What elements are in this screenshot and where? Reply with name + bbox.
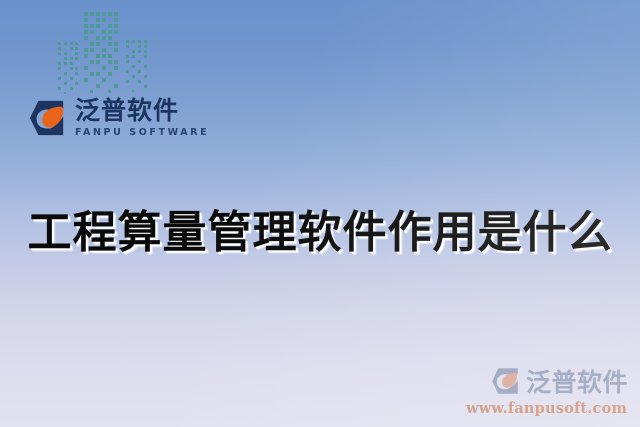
watermark: 泛普软件 www.fanpusoft.com xyxy=(466,363,628,417)
brand-logo: 泛普软件 FANPU SOFTWARE xyxy=(28,98,209,138)
watermark-url: www.fanpusoft.com xyxy=(466,400,627,417)
watermark-name-cn: 泛普软件 xyxy=(526,363,628,399)
pixel-building-skyline-icon xyxy=(56,6,152,98)
fanpu-logo-mark-icon xyxy=(28,99,66,137)
promo-banner: 泛普软件 FANPU SOFTWARE 工程算量管理软件作用是什么 泛普软件 w… xyxy=(0,0,640,427)
page-title: 工程算量管理软件作用是什么 xyxy=(0,196,640,260)
brand-name-en: FANPU SOFTWARE xyxy=(75,128,209,138)
fanpu-watermark-logo-icon xyxy=(490,366,520,396)
brand-name-cn: 泛普软件 xyxy=(75,98,209,123)
watermark-logo-row: 泛普软件 xyxy=(490,363,628,399)
